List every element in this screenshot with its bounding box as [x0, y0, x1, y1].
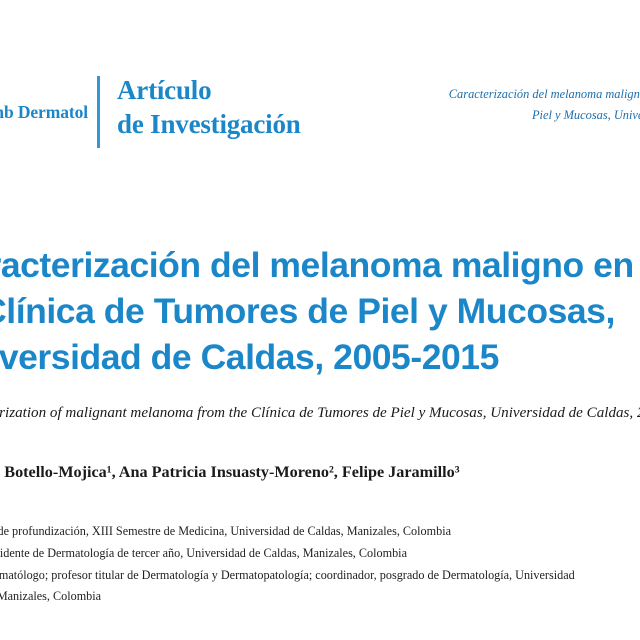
masthead-divider-rule: [97, 76, 100, 148]
article-title-line-3: Universidad de Caldas, 2005-2015: [0, 335, 640, 381]
section-label: Artículo de Investigación: [117, 73, 301, 141]
affiliation-item-1: Estudiante de profundización, XIII Semes…: [0, 521, 640, 543]
section-label-line-2: de Investigación: [117, 107, 301, 141]
affiliation-item-3-continued: de Caldas, Manizales, Colombia: [0, 586, 640, 608]
journal-name: Rev Asoc Colomb Dermatol: [0, 102, 88, 123]
running-head-line-2: Piel y Mucosas, Universidad de Caldas, 2…: [318, 105, 640, 126]
section-label-line-1: Artículo: [117, 73, 301, 107]
running-head-line-1: Caracterización del melanoma maligno en …: [318, 84, 640, 105]
article-title: Caracterización del melanoma maligno en …: [0, 243, 640, 380]
article-title-line-1: Caracterización del melanoma maligno en: [0, 243, 640, 289]
running-head: Caracterización del melanoma maligno en …: [318, 84, 640, 127]
article-title-line-2: la Clínica de Tumores de Piel y Mucosas,: [0, 289, 640, 335]
affiliation-list: Estudiante de profundización, XIII Semes…: [0, 521, 640, 608]
article-subtitle-english: Characterization of malignant melanoma f…: [0, 404, 640, 424]
affiliation-item-2: Médica, residente de Dermatología de ter…: [0, 543, 640, 565]
author-list: Marcela Botello-Mojica¹, Ana Patricia In…: [0, 462, 640, 483]
page-title: Caracterización del melanoma maligno en …: [0, 243, 640, 380]
article-title-page: Rev Asoc Colomb Dermatol Artículo de Inv…: [0, 0, 640, 640]
affiliation-item-3: Médico dermatólogo; profesor titular de …: [0, 565, 640, 587]
